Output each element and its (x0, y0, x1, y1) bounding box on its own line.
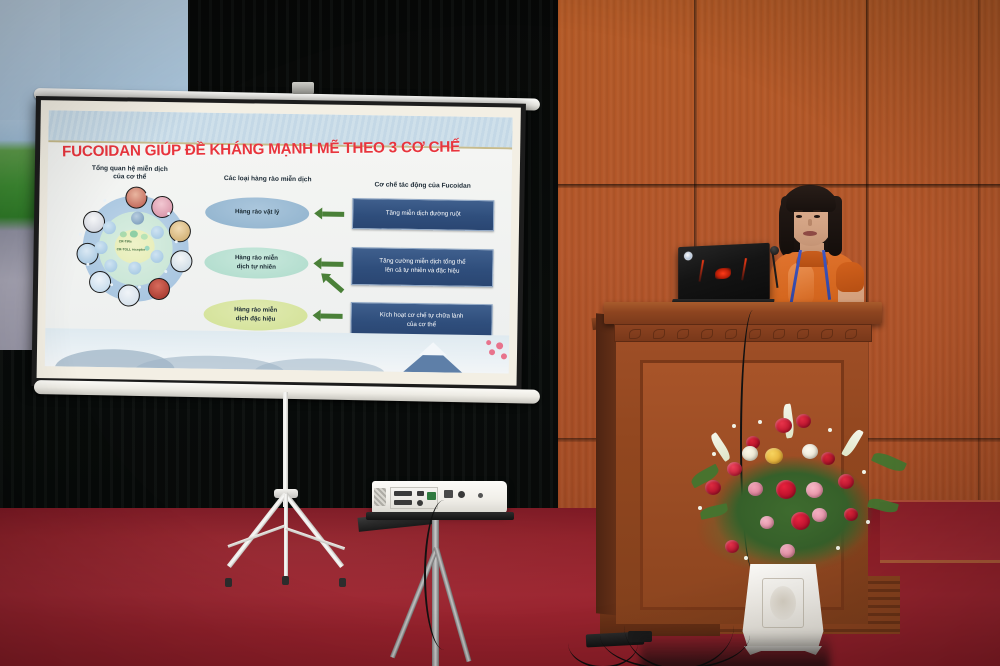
barrier-label-adaptive: Hàng rào miễn dịch đặc hiệu (234, 306, 277, 323)
projector-cable (424, 500, 464, 650)
mechanism-box-overall: Tăng cường miễn dịch tổng thể lên cả tự … (351, 247, 494, 287)
floor-cable-3 (568, 618, 638, 666)
screen-frame: FUCOIDAN GIÚP ĐỀ KHÁNG MẠNH MẼ THEO 3 CƠ… (31, 96, 525, 394)
step-trim (880, 560, 1000, 563)
foreground-blur (640, 632, 830, 666)
fuji-snow-cap (419, 342, 447, 355)
macrophage-icon (103, 221, 116, 234)
asus-badge-icon (684, 251, 693, 260)
nk-cell-icon (128, 261, 141, 274)
speaker-hair-fringe (786, 186, 836, 212)
microphone-head (770, 246, 779, 255)
screen-tripod-leg-center (284, 494, 288, 580)
nose-icon (118, 284, 140, 306)
barrier-label-physical: Hàng rào vật lý (235, 209, 279, 218)
mechanism-selfheal-line2: của cơ thể (407, 320, 436, 327)
podium-top-ledge (604, 302, 882, 324)
dendritic-cell-icon (104, 259, 117, 272)
immune-system-diagram: CR-TIRs CR-TGLL receptor (74, 187, 198, 311)
mechanism-text-gut: Tăng miễn dịch đường ruột (386, 210, 461, 220)
neutrophil-icon (95, 241, 108, 254)
mechanism-overall-line1: Tăng cường miễn dịch tổng thể (379, 258, 465, 266)
podium-carved-band (614, 324, 872, 342)
mechanism-selfheal-line1: Kích hoạt cơ chế tự chữa lành (380, 311, 464, 319)
barrier-label-innate: Hàng rào miễn dịch tự nhiên (235, 254, 278, 271)
rose-cream (742, 446, 758, 461)
lungs-icon (170, 250, 192, 272)
rose-red (775, 418, 792, 433)
immunity-icon (150, 250, 163, 263)
projector-port-panel (390, 487, 438, 509)
rose-pink (806, 482, 823, 498)
barrier-innate-line1: Hàng rào miễn (235, 254, 278, 262)
rog-logo-icon (715, 268, 731, 280)
arrow-to-physical (314, 207, 344, 219)
cherry-blossom-icon (496, 342, 503, 349)
screen-bracket (292, 82, 314, 94)
stage-step (880, 500, 1000, 560)
virus-icon (131, 212, 144, 225)
photo-scene: FUCOIDAN GIÚP ĐỀ KHÁNG MẠNH MẼ THEO 3 CƠ… (0, 0, 1000, 666)
mechanism-overall-line2: lên cả tự nhiên và đặc hiệu (385, 267, 459, 275)
speaker-nose (808, 219, 812, 226)
arrow-to-innate (313, 257, 343, 269)
barrier-adaptive-line2: dịch đặc hiệu (236, 315, 276, 323)
rose-yellow (765, 448, 783, 464)
mechanism-text-overall: Tăng cường miễn dịch tổng thể lên cả tự … (379, 258, 466, 276)
arrow-to-adaptive (312, 309, 342, 321)
speaker-mouth (803, 231, 817, 236)
mechanism-text-selfheal: Kích hoạt cơ chế tự chữa lành của cơ thể (380, 311, 464, 329)
projected-slide: FUCOIDAN GIÚP ĐỀ KHÁNG MẠNH MẼ THEO 3 CƠ… (45, 110, 513, 373)
barrier-adaptive-line1: Hàng rào miễn (234, 306, 277, 314)
speaker-right-sleeve (836, 262, 864, 292)
column-heading-overview: Tổng quan hệ miễn dịch của cơ thể (70, 165, 190, 183)
mechanism-box-gut: Tăng miễn dịch đường ruột (352, 198, 494, 231)
bacteria-icon (151, 226, 164, 239)
core-label-1: CR-TIRs (119, 239, 132, 243)
slide-footer-art (45, 328, 510, 373)
screen-mat: FUCOIDAN GIÚP ĐỀ KHÁNG MẠNH MẼ THEO 3 CƠ… (37, 100, 521, 386)
projector-vent (374, 488, 386, 506)
vase-emboss-motif (770, 586, 796, 620)
barrier-innate-line2: dịch tự nhiên (237, 263, 276, 271)
core-label-2: CR-TGLL receptor (117, 247, 146, 251)
hair-follicle-icon (148, 278, 170, 300)
laptop[interactable] (678, 243, 770, 302)
projection-screen: FUCOIDAN GIÚP ĐỀ KHÁNG MẠNH MẼ THEO 3 CƠ… (24, 88, 540, 403)
